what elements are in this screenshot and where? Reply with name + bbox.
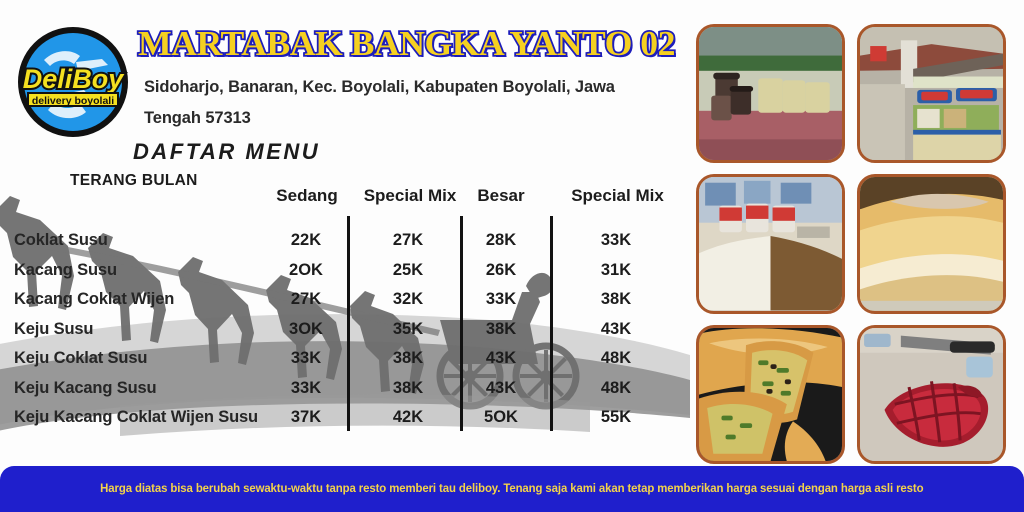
price-cell: 2OK xyxy=(275,256,337,286)
price-cell: 42K xyxy=(358,403,458,433)
price-cell: 48K xyxy=(563,374,669,404)
photo-cheese-and-peanut-toppings xyxy=(696,174,845,313)
price-cell: 43K xyxy=(468,374,534,404)
table-row: Coklat Susu 22K 27K 28K 33K xyxy=(0,226,690,256)
logo-wordmark: DeliBoy xyxy=(23,64,126,94)
table-row: Kacang Susu 2OK 25K 26K 31K xyxy=(0,256,690,286)
price-cell: 55K xyxy=(563,403,669,433)
page-title: MARTABAK BANGKA YANTO 02 xyxy=(138,24,648,64)
price-cell: 38K xyxy=(468,315,534,345)
menu-flyer: DeliBoy delivery boyolali MARTABAK BANGK… xyxy=(0,0,1024,512)
price-cell: 38K xyxy=(563,285,669,315)
item-name: Keju Coklat Susu xyxy=(14,344,147,374)
price-cell: 33K xyxy=(275,344,337,374)
column-header-special-mix-2: Special Mix xyxy=(560,186,675,206)
price-cell: 38K xyxy=(358,374,458,404)
column-header-special-mix-1: Special Mix xyxy=(355,186,465,206)
price-cell: 27K xyxy=(358,226,458,256)
menu-table: Sedang Special Mix Besar Special Mix Cok… xyxy=(0,186,690,451)
price-cell: 32K xyxy=(358,285,458,315)
item-name: Kacang Coklat Wijen xyxy=(14,285,174,315)
price-cell: 38K xyxy=(358,344,458,374)
brand-title-banner: MARTABAK BANGKA YANTO 02 xyxy=(138,24,638,64)
column-header-besar: Besar xyxy=(470,186,532,206)
menu-heading: DAFTAR MENU xyxy=(133,139,320,165)
photo-martabak-telur-cut-open xyxy=(696,325,845,464)
photo-gallery xyxy=(696,24,1006,464)
item-name: Kacang Susu xyxy=(14,256,117,286)
price-cell: 5OK xyxy=(468,403,534,433)
table-row: Keju Susu 3OK 35K 38K 43K xyxy=(0,315,690,345)
disclaimer-text: Harga diatas bisa berubah sewaktu-waktu … xyxy=(100,483,923,495)
item-name: Keju Susu xyxy=(14,315,93,345)
column-header-sedang: Sedang xyxy=(272,186,342,206)
price-cell: 35K xyxy=(358,315,458,345)
photo-drinks-and-packaged-martabak xyxy=(696,24,845,163)
menu-rows: Coklat Susu 22K 27K 28K 33K Kacang Susu … xyxy=(0,226,690,433)
price-cell: 48K xyxy=(563,344,669,374)
table-row: Keju Kacang Coklat Wijen Susu 37K 42K 5O… xyxy=(0,403,690,433)
table-row: Keju Coklat Susu 33K 38K 43K 48K xyxy=(0,344,690,374)
item-name: Keju Kacang Coklat Wijen Susu xyxy=(14,403,258,433)
store-address: Sidoharjo, Banaran, Kec. Boyolali, Kabup… xyxy=(144,72,664,134)
photo-terang-bulan-slice-closeup xyxy=(857,174,1006,313)
price-cell: 22K xyxy=(275,226,337,256)
price-cell: 3OK xyxy=(275,315,337,345)
deliboy-logo: DeliBoy delivery boyolali xyxy=(14,26,132,138)
price-cell: 33K xyxy=(275,374,337,404)
footer-disclaimer-bar: Harga diatas bisa berubah sewaktu-waktu … xyxy=(0,466,1024,512)
photo-street-food-cart-storefront xyxy=(857,24,1006,163)
table-row: Keju Kacang Susu 33K 38K 43K 48K xyxy=(0,374,690,404)
logo-tagline: delivery boyolali xyxy=(32,95,114,107)
price-cell: 26K xyxy=(468,256,534,286)
price-cell: 25K xyxy=(358,256,458,286)
photo-red-velvet-martabak-sliced xyxy=(857,325,1006,464)
price-cell: 33K xyxy=(563,226,669,256)
item-name: Keju Kacang Susu xyxy=(14,374,156,404)
price-cell: 43K xyxy=(563,315,669,345)
price-cell: 37K xyxy=(275,403,337,433)
price-cell: 43K xyxy=(468,344,534,374)
price-cell: 33K xyxy=(468,285,534,315)
item-name: Coklat Susu xyxy=(14,226,108,256)
menu-column-headers: Sedang Special Mix Besar Special Mix xyxy=(0,186,690,218)
price-cell: 28K xyxy=(468,226,534,256)
price-cell: 27K xyxy=(275,285,337,315)
price-cell: 31K xyxy=(563,256,669,286)
table-row: Kacang Coklat Wijen 27K 32K 33K 38K xyxy=(0,285,690,315)
